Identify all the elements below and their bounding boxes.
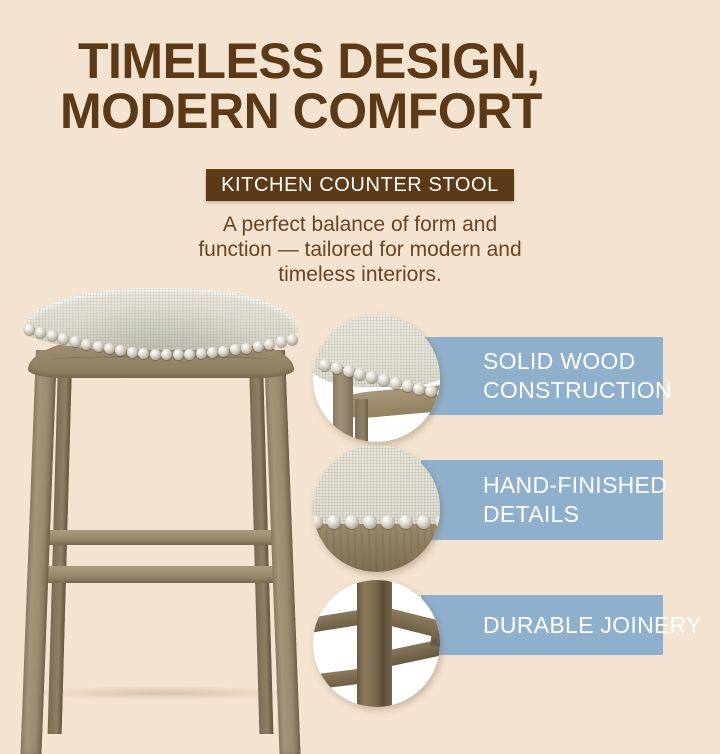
nailhead	[184, 349, 195, 360]
feature-label-line-1: HAND-FINISHED	[483, 471, 663, 500]
stool-stretcher-upper	[44, 530, 282, 545]
product-feature-graphic: TIMELESS DESIGN, MODERN COMFORT KITCHEN …	[0, 0, 720, 720]
feature-callout-solid-wood-construction: SOLID WOOD CONSTRUCTION	[313, 315, 663, 445]
linen-fabric-nailhead-macro-photo	[313, 445, 440, 572]
nailhead	[345, 515, 359, 529]
subtitle-line-1: A perfect balance of form and	[150, 212, 570, 237]
nailhead	[331, 362, 343, 374]
nailhead	[402, 380, 414, 392]
subtitle-line-3: timeless interiors.	[150, 262, 570, 287]
nailhead	[363, 515, 377, 529]
page-title: TIMELESS DESIGN, MODERN COMFORT	[56, 36, 676, 136]
feature-label-line-1: DURABLE JOINERY	[483, 611, 663, 640]
nailhead	[150, 349, 161, 360]
feature-label-line-2: DETAILS	[483, 500, 663, 529]
feature-label-bar: DURABLE JOINERY	[421, 595, 663, 655]
detail-linen-weave	[313, 445, 440, 524]
headline-line-2: MODERN COMFORT	[56, 86, 676, 136]
nailhead	[104, 343, 115, 354]
detail-nailheads	[319, 355, 440, 391]
nailhead	[24, 324, 35, 335]
nailhead	[138, 348, 149, 359]
feature-label-line-2: CONSTRUCTION	[483, 376, 663, 405]
nailhead	[93, 341, 104, 352]
nailhead	[127, 347, 138, 358]
nailhead	[378, 374, 390, 386]
nailhead	[47, 330, 58, 341]
nailhead	[264, 339, 275, 350]
nailhead	[417, 515, 431, 529]
product-category-badge: KITCHEN COUNTER STOOL	[206, 169, 514, 201]
detail-nailheads	[313, 515, 440, 533]
nailhead	[313, 515, 323, 529]
feature-callout-durable-joinery: DURABLE JOINERY	[313, 580, 663, 715]
headline-line-1: TIMELESS DESIGN,	[56, 36, 676, 86]
nailhead	[173, 349, 184, 360]
detail-leg-edge	[383, 580, 392, 707]
nailhead	[366, 371, 378, 383]
nailhead	[230, 344, 241, 355]
stool-nailhead-trim	[24, 318, 298, 362]
stool-stretcher-lower	[40, 566, 286, 583]
nailhead	[70, 336, 81, 347]
nailhead	[343, 365, 355, 377]
nailhead	[381, 515, 395, 529]
nailhead	[115, 345, 126, 356]
nailhead	[287, 334, 298, 345]
nailhead	[81, 339, 92, 350]
feature-callout-hand-finished-details: HAND-FINISHED DETAILS	[313, 445, 663, 575]
nailhead	[399, 515, 413, 529]
nailhead	[354, 368, 366, 380]
nailhead	[327, 515, 341, 529]
nailhead	[241, 343, 252, 354]
nailhead	[218, 346, 229, 357]
stool-floor-shadow	[26, 686, 298, 700]
nailhead	[207, 347, 218, 358]
subtitle-line-2: function — tailored for modern and	[150, 237, 570, 262]
nailhead	[390, 377, 402, 389]
nailhead	[161, 349, 172, 360]
nailhead	[435, 515, 440, 529]
subtitle: A perfect balance of form and function —…	[150, 212, 570, 287]
seat-corner-nailhead-detail-photo	[313, 315, 440, 442]
nailhead	[253, 341, 264, 352]
feature-label-bar: SOLID WOOD CONSTRUCTION	[421, 337, 663, 415]
detail-leg	[357, 580, 383, 707]
nailhead	[276, 336, 287, 347]
nailhead	[196, 348, 207, 359]
product-photo-stool	[6, 288, 316, 696]
feature-label-bar: HAND-FINISHED DETAILS	[421, 460, 663, 540]
detail-leg-post-secondary	[355, 399, 368, 442]
feature-label-line-1: SOLID WOOD	[483, 347, 663, 376]
leg-stretcher-joinery-photo	[313, 580, 440, 707]
nailhead	[35, 327, 46, 338]
nailhead	[58, 333, 69, 344]
nailhead	[319, 359, 331, 371]
